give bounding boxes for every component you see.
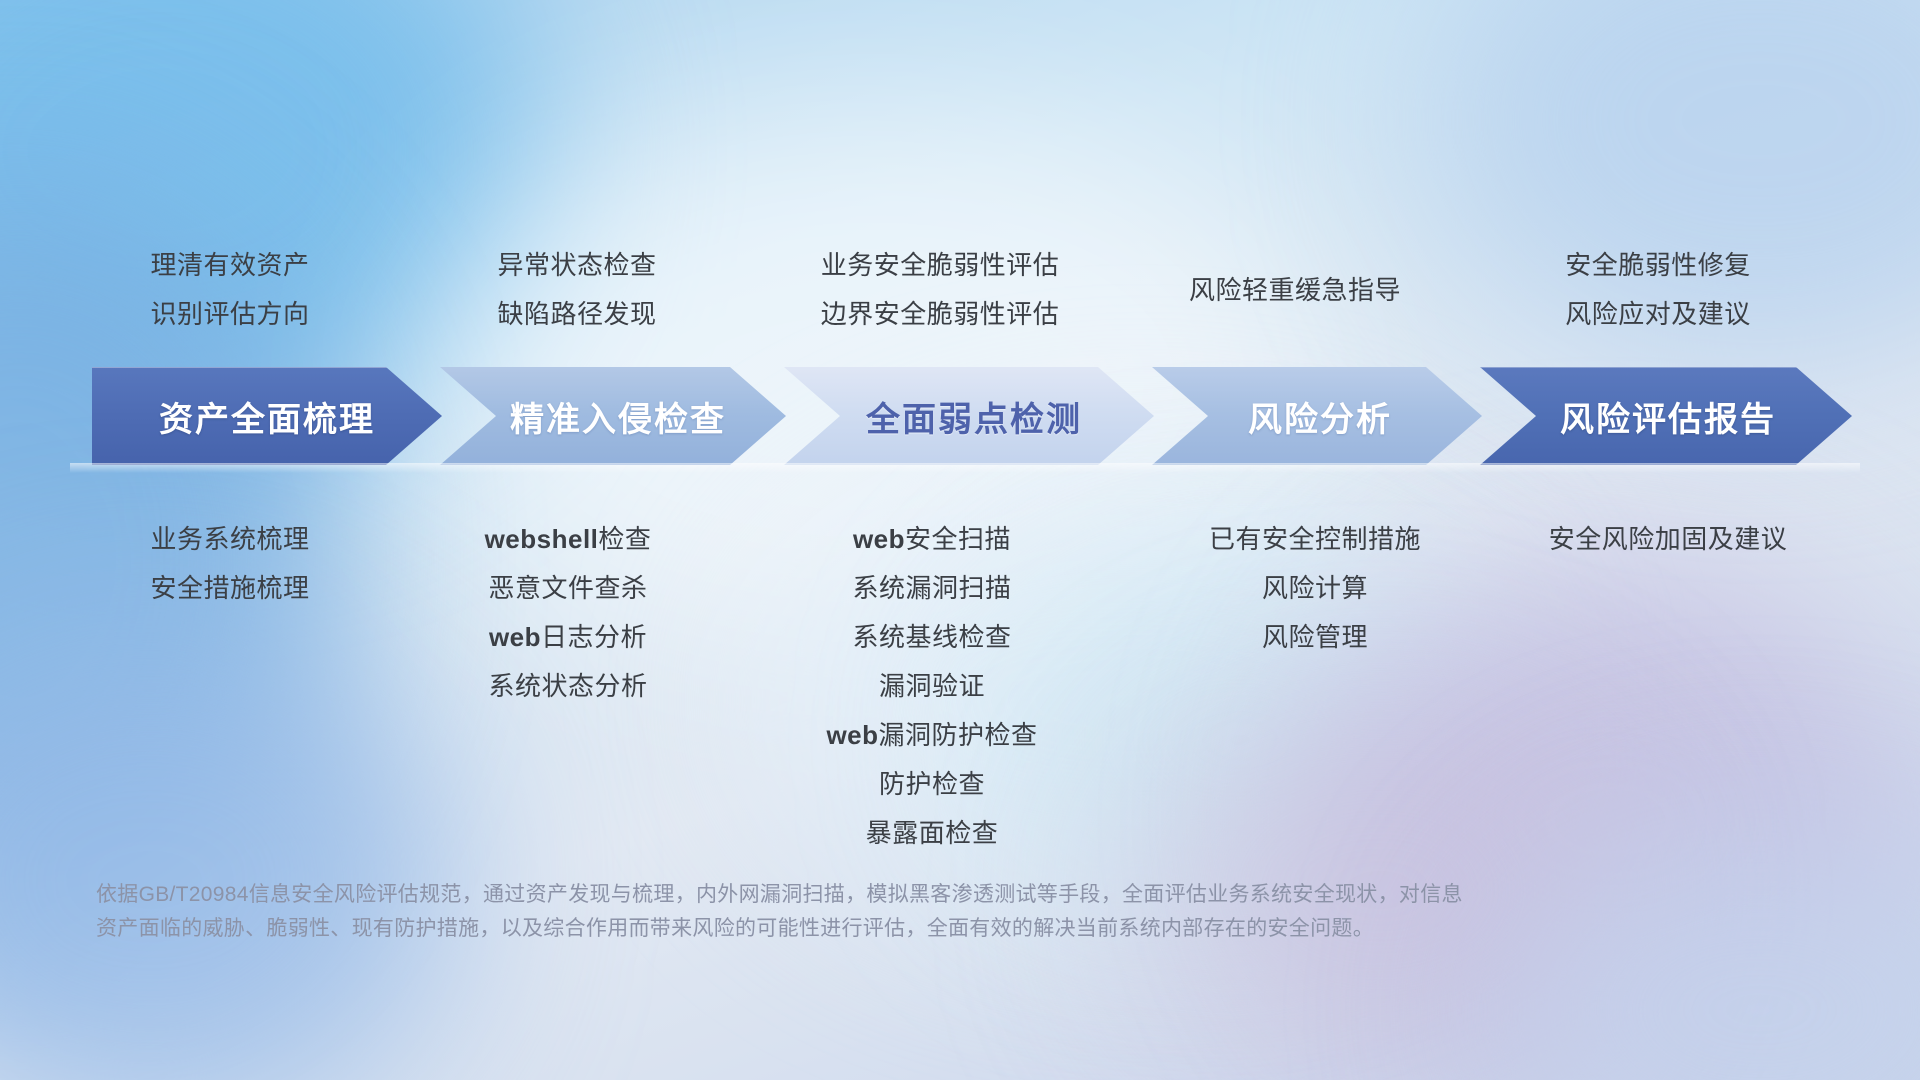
stage-3-top-note-2: 边界安全脆弱性评估 [821,294,1060,331]
stage-3-bottom-note-6: 防护检查 [879,764,985,801]
stage-4-bottom-note-1: 已有安全控制措施 [1209,519,1421,556]
stage-4-top-note-1: 风险轻重缓急指导 [1189,270,1401,307]
stage-5-top-note-2: 风险应对及建议 [1565,294,1751,331]
stage-3-bottom-note-7: 暴露面检查 [866,813,999,850]
stage-3-arrow[interactable]: 全面弱点检测 [784,367,1154,465]
stage-4-bottom-note-3: 风险管理 [1262,617,1368,654]
stage-3-bottom-note-1: web安全扫描 [853,519,1011,556]
stage-1-arrow[interactable]: 资产全面梳理 [92,367,442,465]
stage-4-bottom-note-2: 风险计算 [1262,568,1368,605]
stage-1-bottom-note-2: 安全措施梳理 [150,568,309,605]
stage-3-top-note-1: 业务安全脆弱性评估 [821,245,1060,282]
stage-2-top-note-2: 缺陷路径发现 [497,294,656,331]
stage-3-label: 全面弱点检测 [866,392,1082,441]
stage-5-bottom-note-1: 安全风险加固及建议 [1549,519,1788,556]
stage-3-bottom-note-5: web漏洞防护检查 [826,715,1037,752]
stage-5-label: 风险评估报告 [1560,392,1776,441]
footer-line-2: 资产面临的威胁、脆弱性、现有防护措施，以及综合作用而带来风险的可能性进行评估，全… [96,912,1656,946]
stage-3-bottom-note-2: 系统漏洞扫描 [852,568,1011,605]
stage-1-bottom-note-1: 业务系统梳理 [150,519,309,556]
stage-1-top-note-1: 理清有效资产 [150,245,309,282]
stage-3-bottom-note-4: 漏洞验证 [879,666,985,703]
stage-1-top-note-2: 识别评估方向 [150,294,309,331]
footer-line-1: 依据GB/T20984信息安全风险评估规范，通过资产发现与梳理，内外网漏洞扫描，… [96,878,1656,912]
stage-5-arrow[interactable]: 风险评估报告 [1480,367,1852,465]
stage-5-top-note-1: 安全脆弱性修复 [1565,245,1751,282]
stage-2-bottom-note-1: webshell检查 [485,519,652,556]
stage-2-bottom-note-2: 恶意文件查杀 [488,568,647,605]
stage-2-arrow[interactable]: 精准入侵检查 [440,367,786,465]
stage-2-label: 精准入侵检查 [510,392,726,441]
stage-4-label: 风险分析 [1248,392,1392,441]
stage-3-bottom-note-3: 系统基线检查 [852,617,1011,654]
stage-4-arrow[interactable]: 风险分析 [1152,367,1482,465]
stage-2-top-note-1: 异常状态检查 [497,245,656,282]
stage-1-label: 资产全面梳理 [159,392,375,441]
slide-canvas: 理清有效资产 识别评估方向 异常状态检查 缺陷路径发现 业务安全脆弱性评估 边界… [0,0,1920,1080]
process-arrow-band: 资产全面梳理 精准入侵检查 全面弱点检测 风险分析 风险评估报告 [0,367,1920,465]
stage-2-bottom-note-4: 系统状态分析 [488,666,647,703]
footer-description: 依据GB/T20984信息安全风险评估规范，通过资产发现与梳理，内外网漏洞扫描，… [96,878,1656,946]
stage-2-bottom-note-3: web日志分析 [489,617,647,654]
